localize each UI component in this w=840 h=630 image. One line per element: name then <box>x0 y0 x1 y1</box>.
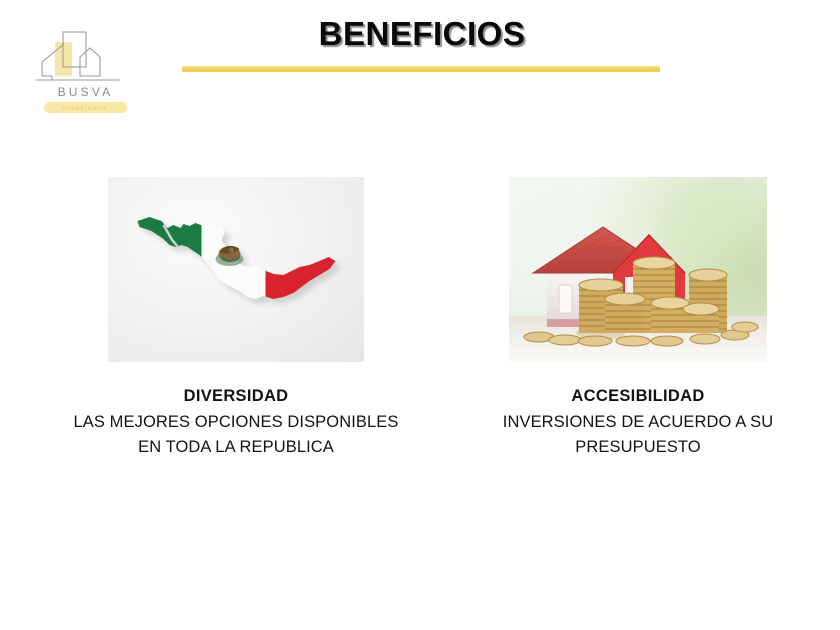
logo-brand-text: BUSVA <box>58 85 114 99</box>
benefit-caption-diversidad: DIVERSIDAD LAS MEJORES OPCIONES DISPONIB… <box>16 384 456 461</box>
house-and-coins-photo <box>509 177 767 362</box>
mexico-map-flag-photo <box>108 177 364 362</box>
house-and-coins-illustration <box>509 177 767 362</box>
benefit-line-1: INVERSIONES DE ACUERDO A SU <box>452 410 824 436</box>
benefit-line-2: EN TODA LA REPUBLICA <box>16 435 456 461</box>
benefit-column-diversidad: DIVERSIDAD LAS MEJORES OPCIONES DISPONIB… <box>16 177 456 461</box>
benefit-heading: DIVERSIDAD <box>16 384 456 410</box>
slide-beneficios: BUSVA inmobiliaria BENEFICIOS <box>0 0 840 630</box>
benefit-caption-accesibilidad: ACCESIBILIDAD INVERSIONES DE ACUERDO A S… <box>452 384 824 461</box>
benefit-column-accesibilidad: ACCESIBILIDAD INVERSIONES DE ACUERDO A S… <box>452 177 824 461</box>
logo-tagline-text: inmobiliaria <box>63 106 108 112</box>
benefit-line-1: LAS MEJORES OPCIONES DISPONIBLES <box>16 410 456 436</box>
title-underline-rule <box>182 66 660 72</box>
slide-title: BENEFICIOS <box>180 16 664 52</box>
mexico-map-shape <box>124 195 349 345</box>
benefit-heading: ACCESIBILIDAD <box>452 384 824 410</box>
busva-logo: BUSVA inmobiliaria <box>28 24 143 119</box>
benefit-line-2: PRESUPUESTO <box>452 435 824 461</box>
